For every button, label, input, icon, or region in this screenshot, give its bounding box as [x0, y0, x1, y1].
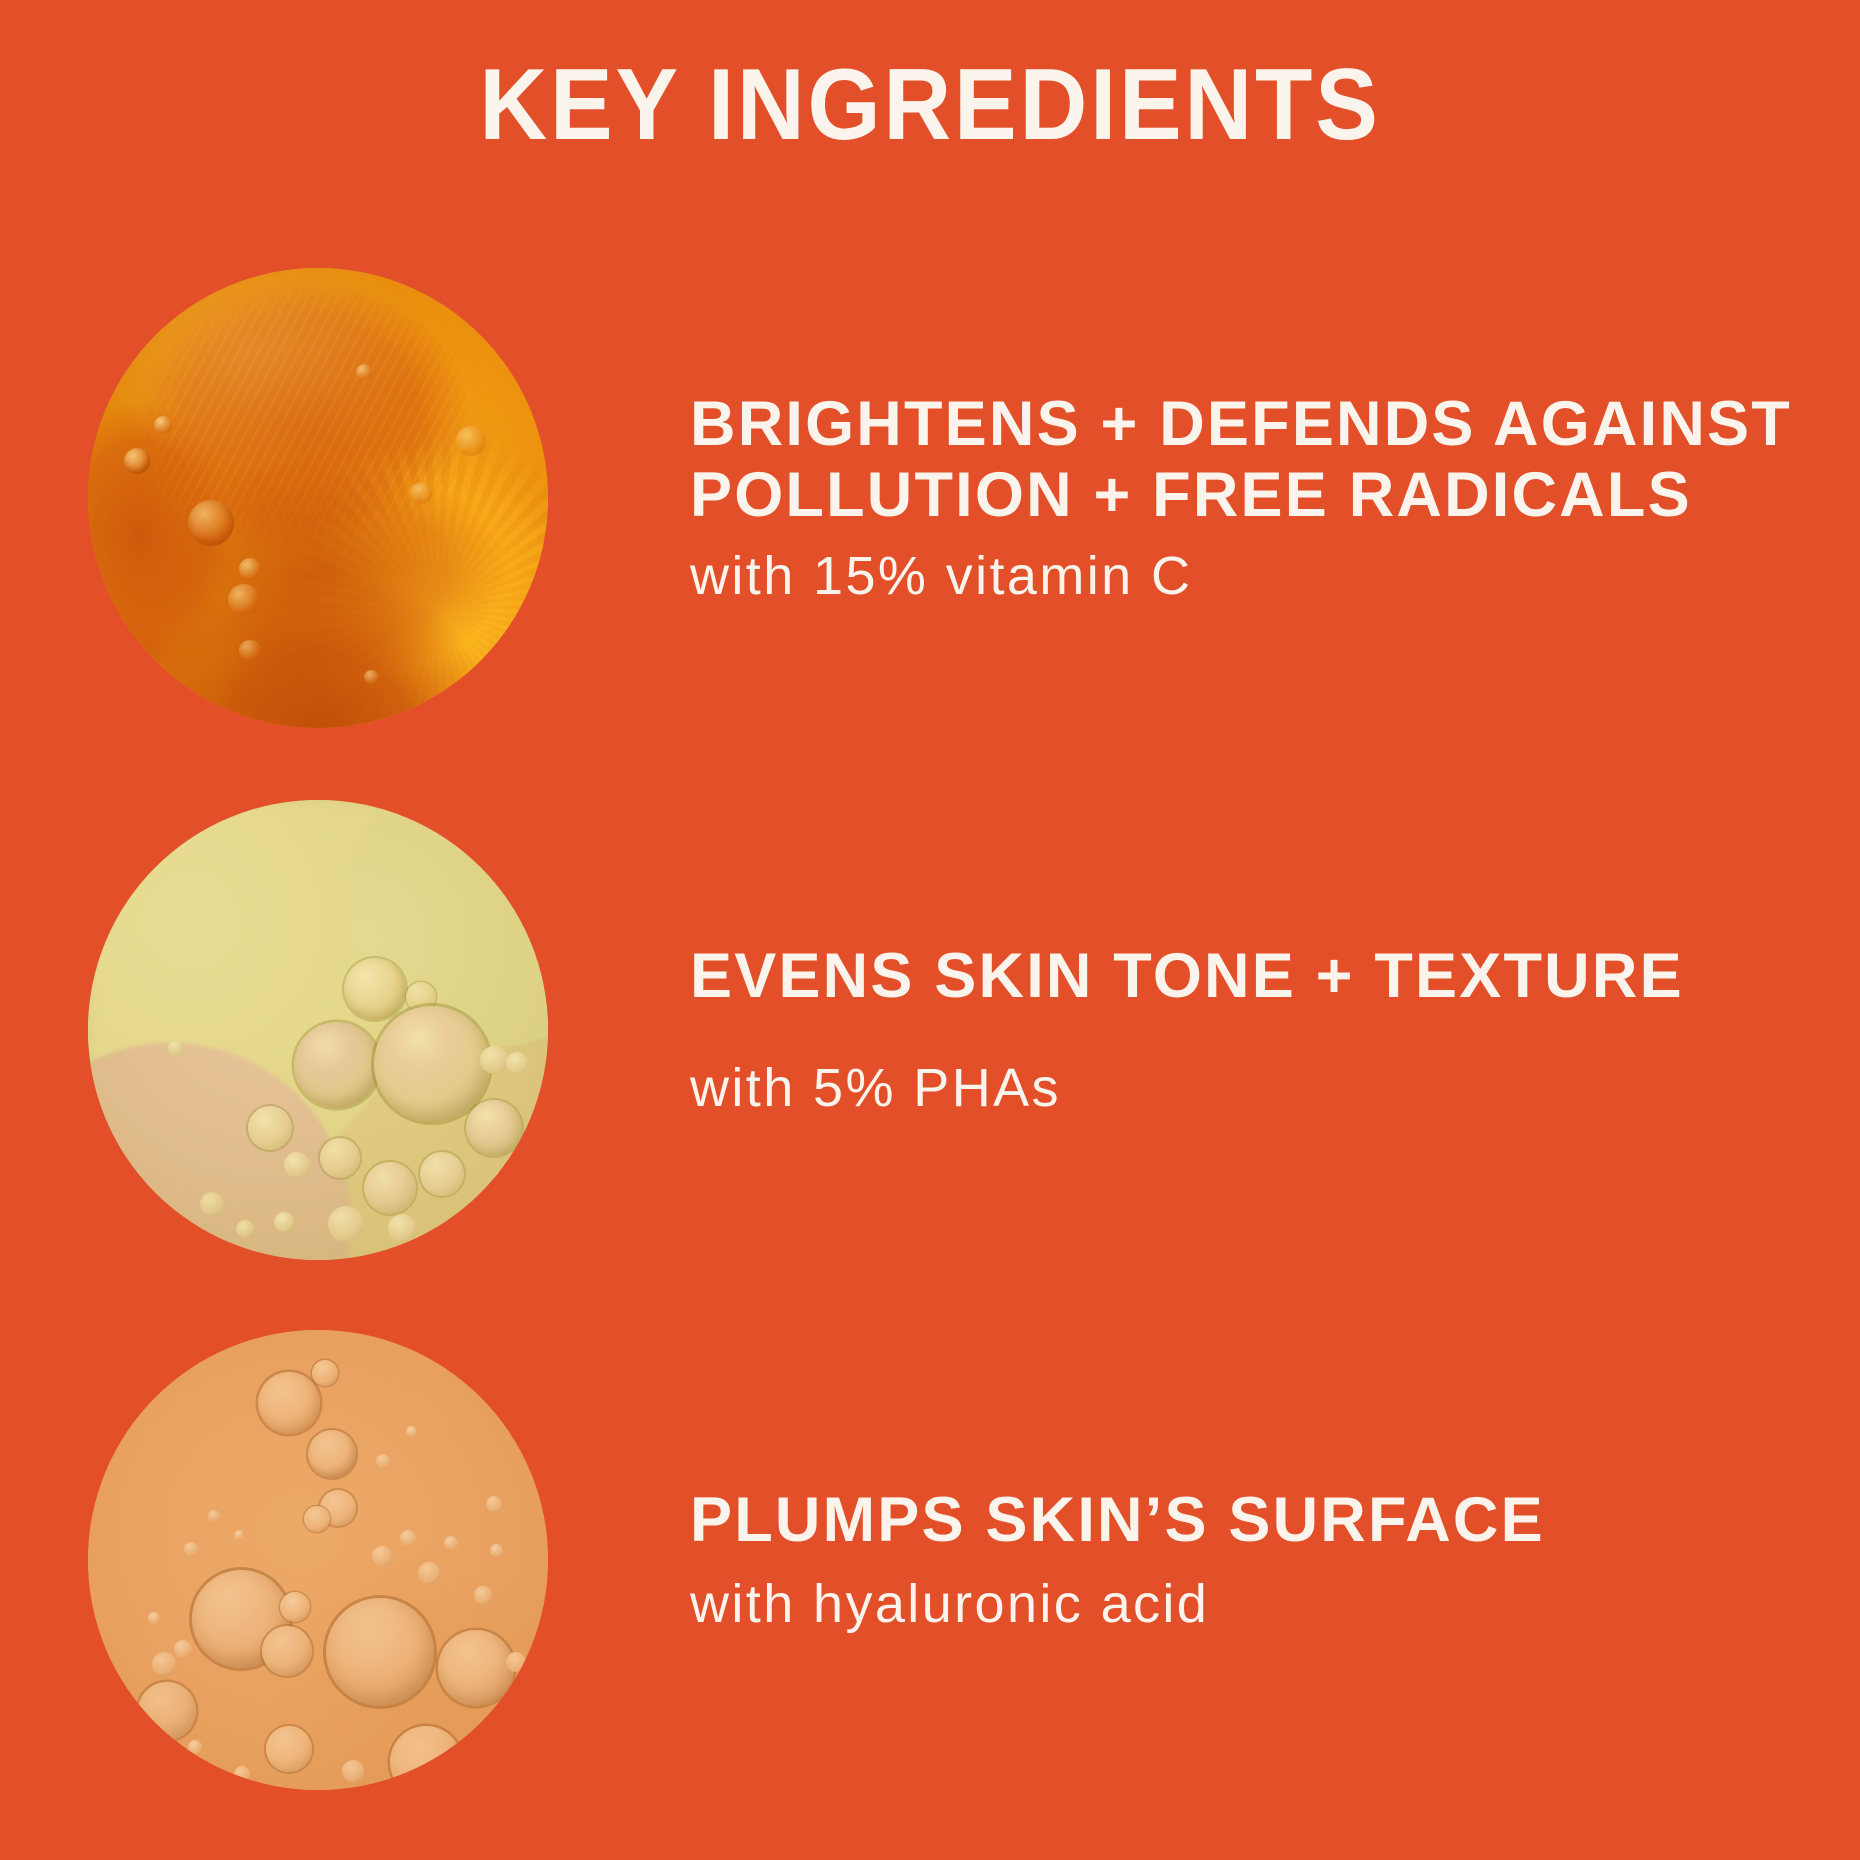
ingredient-headline: EVENS SKIN TONE + TEXTURE: [690, 941, 1820, 1012]
page-title: KEY INGREDIENTS: [65, 52, 1795, 158]
ingredient-image-citrus: [88, 268, 548, 728]
ingredient-headline: PLUMPS SKIN’S SURFACE: [690, 1485, 1820, 1556]
amber-oil-bubbles: [88, 1330, 548, 1790]
ingredient-headline: BRIGHTENS + DEFENDS AGAINST POLLUTION + …: [690, 389, 1820, 531]
ingredient-subline: with hyaluronic acid: [690, 1573, 1820, 1635]
ingredient-text-hyaluronic-acid: PLUMPS SKIN’S SURFACE with hyaluronic ac…: [690, 1485, 1860, 1634]
ingredient-image-amber-oil: [88, 1330, 548, 1790]
ingredient-row-phas: EVENS SKIN TONE + TEXTURE with 5% PHAs: [0, 800, 1860, 1260]
ingredient-row-hyaluronic-acid: PLUMPS SKIN’S SURFACE with hyaluronic ac…: [0, 1330, 1860, 1790]
ingredient-subline: with 5% PHAs: [690, 1057, 1820, 1119]
pale-oil-bubbles: [88, 800, 548, 1260]
citrus-bubbles: [88, 268, 548, 728]
ingredient-text-phas: EVENS SKIN TONE + TEXTURE with 5% PHAs: [690, 941, 1860, 1118]
ingredient-image-pale-oil: [88, 800, 548, 1260]
ingredient-row-vitamin-c: BRIGHTENS + DEFENDS AGAINST POLLUTION + …: [0, 268, 1860, 728]
ingredient-text-vitamin-c: BRIGHTENS + DEFENDS AGAINST POLLUTION + …: [690, 389, 1860, 607]
ingredient-subline: with 15% vitamin C: [690, 545, 1820, 607]
